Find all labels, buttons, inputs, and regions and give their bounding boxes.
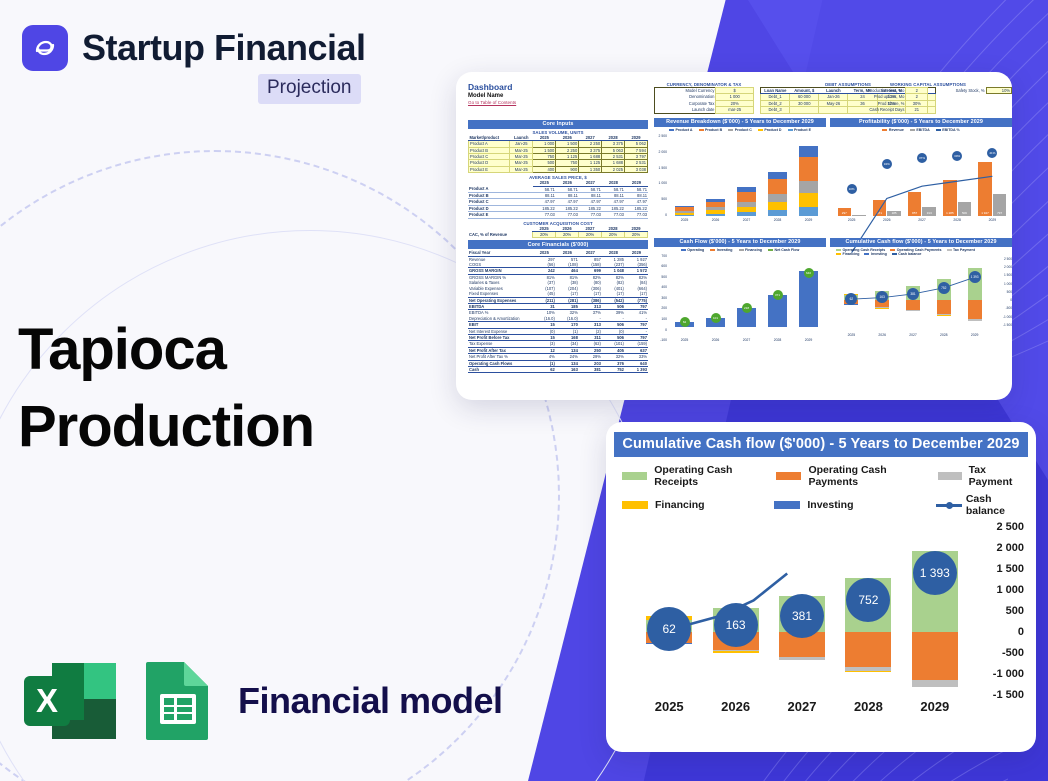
bar-segment-operating-cash-receipts	[779, 596, 825, 632]
legend-item: Revenue	[882, 128, 903, 132]
legend-operating-cash-payments: Operating Cash Payments	[776, 464, 939, 488]
cash-balance-label: 381	[907, 288, 919, 300]
bar-stack	[675, 206, 694, 216]
bar-segment-operating-cash-payments	[713, 632, 759, 650]
legend-investing: Investing	[774, 493, 935, 517]
core-financials-band: Core Financials ($'000)	[468, 240, 648, 249]
legend-item: Financing	[836, 252, 859, 256]
legend-item: Financing	[739, 248, 762, 252]
revenue-x-axis: 20252026202720282029	[669, 216, 824, 225]
bar-segment-operating-cash-receipts	[713, 608, 759, 632]
bar-segment-financing	[646, 616, 692, 620]
bar-column	[912, 527, 958, 695]
bar-stack	[799, 146, 818, 216]
cumulative-chart-title: Cumulative Cash flow ($'000) - 5 Years t…	[614, 432, 1028, 457]
page-title-line2: Production	[18, 389, 314, 466]
working-capital-panel: WORKING CAPITAL ASSUMPTIONS Production t…	[844, 82, 1012, 114]
cumulative-mini-plot: 621633817521 3932 5002 0001 5001 0005000…	[830, 257, 1012, 343]
bar-segment-financing	[845, 671, 891, 672]
svg-text:X: X	[36, 682, 58, 719]
legend-item: Product A	[669, 128, 693, 132]
legend-item: Tax Payment	[947, 248, 975, 252]
toc-link[interactable]: Go to Table of Contents	[468, 100, 644, 105]
legend-item: Product E	[788, 128, 811, 132]
table-row: Product E77.0377.0377.0377.0377.03	[468, 212, 648, 218]
core-financials-body: Revenue2975718571 2851 927COGS(56)(108)(…	[468, 256, 648, 373]
cashflow-mini-chart[interactable]: Cash Flow ($'000) - 5 Years to December …	[654, 238, 826, 354]
data-label: 371	[773, 290, 783, 300]
cumulative-chart-plot: 2 5002 0001 5001 0005000-500-1 000-1 500…	[614, 527, 1028, 717]
cashflow-mini-title: Cash Flow ($'000) - 5 Years to December …	[654, 238, 826, 247]
data-label: 32%	[882, 159, 892, 169]
legend-item: Product C	[728, 128, 752, 132]
bar-segment-operating-cash-receipts	[912, 551, 958, 632]
dashboard-screenshot-card[interactable]: Dashboard Model Name Go to Table of Cont…	[456, 72, 1012, 400]
data-label: 37%	[917, 153, 927, 163]
core-financials-table: Fiscal Year 2025 2026 2027 2028 2029 Rev…	[468, 250, 648, 373]
excel-icon: X	[22, 660, 118, 742]
cashflow-mini-x-axis: 20252026202720282029	[669, 336, 824, 345]
bar-segment-operating-cash-payments	[646, 632, 692, 643]
bar-stack	[737, 187, 756, 216]
brand-logo: Startup Financial	[22, 25, 366, 71]
model-name-label: Model Name	[468, 93, 644, 99]
legend-item: EBITDA %	[936, 128, 960, 132]
cash-balance-label: 752	[938, 282, 950, 294]
data-label: 62	[680, 317, 690, 327]
x-tick-label: 2028	[835, 699, 901, 723]
bar-column	[845, 527, 891, 695]
file-format-row: X Financial model	[22, 660, 503, 742]
cumulative-mini-title: Cumulative Cash flow ($'000) - 5 Years t…	[830, 238, 1012, 247]
bar-segment-operating-cash-payments	[845, 632, 891, 667]
bar-segment-operating-cash-receipts	[845, 578, 891, 632]
legend-item: Product B	[699, 128, 723, 132]
profitability-plot: 297315711858573131 2855061 927797 10%32%…	[830, 133, 1012, 225]
core-inputs-section: Core Inputs SALES VOLUME, UNITS Market/p…	[468, 118, 648, 373]
table-row[interactable]: CAC, % of Revenue20%20%20%20%20%	[468, 232, 648, 238]
sales-volume-table: Market/product Launch 2025 2026 2027 202…	[468, 135, 648, 173]
cumulative-bars	[636, 527, 968, 695]
bar-column	[779, 527, 825, 695]
x-tick-label: 2026	[702, 699, 768, 723]
legend-item: Cash balance	[892, 252, 922, 256]
cashflow-mini-plot: 7006005004003002001000-100 6210121837164…	[654, 253, 826, 345]
x-tick-label: 2027	[769, 699, 835, 723]
data-label: 101	[711, 313, 721, 323]
working-capital-table: Production time, Mo 2 Safety Stock, % 10…	[844, 87, 1012, 114]
spreadsheet-dashboard: Dashboard Model Name Go to Table of Cont…	[464, 80, 1004, 392]
table-row[interactable]: Product EMar-254009001 3502 0253 038	[469, 166, 648, 172]
data-label: 218	[742, 303, 752, 313]
legend-tax-payment: Tax Payment	[938, 464, 1026, 488]
legend-item: Operating	[681, 248, 704, 252]
cash-balance-label: 62	[845, 293, 857, 305]
legend-item: Net Cash Flow	[768, 248, 799, 252]
data-label: 10%	[847, 184, 857, 194]
bar-stack	[706, 199, 725, 216]
cumulative-x-axis: 20252026202720282029	[636, 699, 968, 723]
cumulative-mini-canvas: 621633817521 3932 5002 0001 5001 0005000…	[830, 257, 1012, 343]
revenue-bars	[669, 133, 824, 216]
google-sheets-icon	[140, 660, 216, 742]
revenue-plot: 2 500 2 000 1 500 1 000 500 0 2025202620…	[654, 133, 826, 225]
legend-item: EBITDA	[910, 128, 930, 132]
brand-name: Startup Financial	[82, 27, 366, 69]
data-label: 41%	[987, 148, 997, 158]
brand-subtitle: Projection	[258, 74, 361, 104]
currency-panel: CURRENCY, DENOMINATOR & TAX Model Curren…	[654, 82, 754, 114]
bar-segment-operating-cash-payments	[779, 632, 825, 657]
data-label: 39%	[952, 151, 962, 161]
legend-item: Investing	[864, 252, 886, 256]
table-row: Cash Receipt Days 21	[844, 107, 1012, 113]
bar-segment-operating-cash-receipts	[646, 620, 692, 632]
profitability-x-axis: 20252026202720282029	[834, 216, 1010, 225]
bar-column	[646, 527, 692, 695]
cumulative-chart-legend: Operating Cash Receipts Operating Cash P…	[622, 464, 1026, 517]
profitability-chart-title: Profitability ($'000) - 5 Years to Decem…	[830, 118, 1012, 127]
bar-segment-investing	[646, 643, 692, 644]
currency-panel-title: CURRENCY, DENOMINATOR & TAX	[654, 82, 754, 87]
cash-balance-label: 163	[876, 291, 888, 303]
bar-stack	[768, 172, 787, 216]
currency-table: Model Currency$ Denomination1 000 Corpor…	[654, 87, 754, 114]
revenue-chart-title: Revenue Breakdown ($'000) - 5 Years to D…	[654, 118, 826, 127]
bar-column	[713, 527, 759, 695]
table-row: Launch datemar-25	[655, 107, 754, 113]
bar-segment-tax-payment	[779, 657, 825, 660]
legend-operating-cash-receipts: Operating Cash Receipts	[622, 464, 776, 488]
dashboard-header: Dashboard Model Name Go to Table of Cont…	[468, 82, 644, 105]
cac-table: 2025 2026 2027 2028 2029 CAC, % of Reven…	[468, 226, 648, 239]
cumulative-y-axis: 2 5002 0001 5001 0005000-500-1 000-1 500	[972, 527, 1024, 695]
cash-balance-label: 1 393	[969, 271, 981, 283]
bar-segment-financing	[713, 651, 759, 653]
revenue-breakdown-chart[interactable]: Revenue Breakdown ($'000) - 5 Years to D…	[654, 118, 826, 234]
profitability-dots: 10%32%37%39%41%	[834, 133, 1010, 216]
page-title-line1: Tapioca	[18, 312, 314, 389]
cumulative-mini-chart[interactable]: Cumulative Cash flow ($'000) - 5 Years t…	[830, 238, 1012, 354]
table-row: Cash621633817521 393	[468, 366, 648, 372]
legend-item: Product D	[758, 128, 782, 132]
cumulative-mini-legend: Operating Cash Receipts Operating Cash P…	[830, 247, 1012, 257]
financial-model-label: Financial model	[238, 680, 503, 722]
cashflow-mini-dots: 62101218371640	[669, 255, 824, 327]
cumulative-cashflow-card[interactable]: Cumulative Cash flow ($'000) - 5 Years t…	[606, 422, 1036, 752]
revenue-y-axis: 2 500 2 000 1 500 1 000 500 0	[654, 133, 668, 225]
bar-segment-operating-cash-payments	[912, 632, 958, 680]
page-title: Tapioca Production	[18, 312, 314, 465]
core-inputs-band: Core Inputs	[468, 120, 648, 129]
bar-segment-tax-payment	[912, 680, 958, 687]
avg-price-table: 2025 2026 2027 2028 2029 Product A58.715…	[468, 180, 648, 218]
profitability-chart[interactable]: Profitability ($'000) - 5 Years to Decem…	[830, 118, 1012, 234]
legend-cash-balance: Cash balance	[936, 493, 1026, 517]
legend-item: Investing	[710, 248, 732, 252]
e-loop-icon	[22, 25, 68, 71]
legend-financing: Financing	[622, 493, 774, 517]
cashflow-mini-y-axis: 7006005004003002001000-100	[654, 253, 668, 345]
dashboard-heading: Dashboard	[468, 82, 644, 92]
x-tick-label: 2025	[636, 699, 702, 723]
x-tick-label: 2029	[902, 699, 968, 723]
data-label: 640	[804, 268, 814, 278]
